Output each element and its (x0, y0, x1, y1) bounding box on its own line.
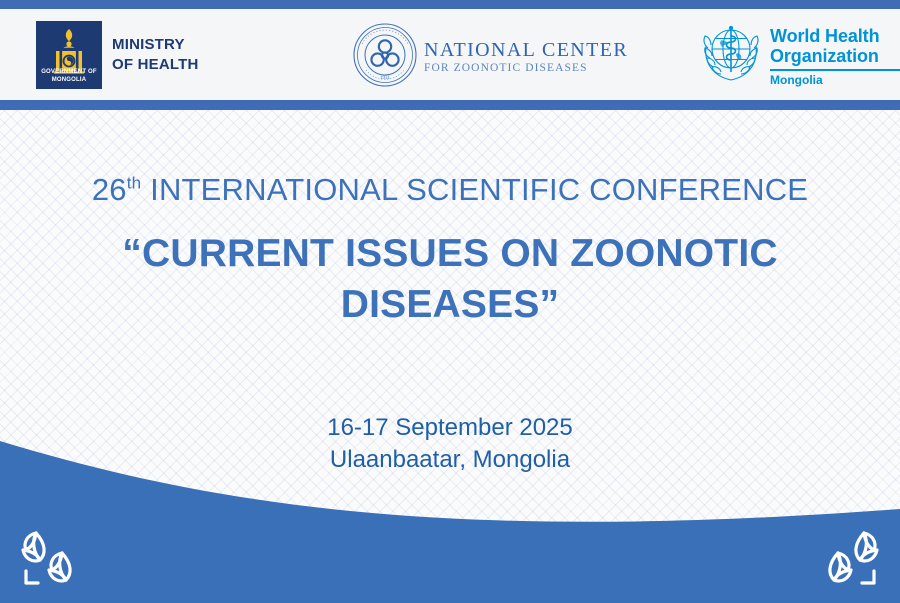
mongolian-knot-ornament-left (14, 527, 86, 589)
ministry-line-1: MINISTRY (112, 35, 199, 55)
conference-edition-line: 26th INTERNATIONAL SCIENTIFIC CONFERENCE (0, 170, 900, 210)
logo-world-health-organization: World Health Organization Mongolia (700, 22, 900, 89)
logo-national-center-zoonotic-diseases: 1931 NATIONAL CENTER FOR ZOONOTIC DISEAS… (352, 22, 628, 93)
conference-title-slide: GOVERNMENT OF MONGOLIA MINISTRY OF HEALT… (0, 0, 900, 603)
top-accent-bar (0, 0, 900, 9)
page-title: “CURRENT ISSUES ON ZOONOTIC DISEASES” (0, 228, 900, 330)
title-block: 26th INTERNATIONAL SCIENTIFIC CONFERENCE… (0, 170, 900, 330)
seal-year: 1931 (380, 76, 391, 81)
wave-blue-layer (0, 441, 900, 603)
zoonotic-line-2: FOR ZOONOTIC DISEASES (424, 63, 628, 75)
who-wordmark: World Health Organization Mongolia (770, 26, 900, 86)
who-underline-rule (770, 69, 900, 71)
footer-wave-decoration (0, 433, 900, 603)
who-line-1: World Health (770, 26, 900, 46)
who-emblem-icon (700, 22, 762, 89)
mongolian-knot-ornament-right (814, 527, 886, 589)
conference-label: INTERNATIONAL SCIENTIFIC CONFERENCE (141, 172, 808, 207)
conference-ordinal-suffix: th (127, 174, 142, 193)
mongolia-state-emblem-icon: GOVERNMENT OF MONGOLIA (36, 21, 102, 89)
emblem-caption: GOVERNMENT OF MONGOLIA (36, 68, 102, 84)
emblem-caption-line-1: GOVERNMENT OF (36, 68, 102, 76)
logo-ministry-of-health: GOVERNMENT OF MONGOLIA MINISTRY OF HEALT… (36, 21, 199, 89)
who-country-label: Mongolia (770, 74, 900, 86)
ministry-of-health-wordmark: MINISTRY OF HEALTH (112, 35, 199, 75)
conference-number: 26 (92, 172, 127, 207)
who-line-2: Organization (770, 46, 900, 66)
header-accent-bar (0, 100, 900, 110)
ministry-line-2: OF HEALTH (112, 55, 199, 75)
zoonotic-seal-icon: 1931 (352, 22, 418, 93)
emblem-caption-line-2: MONGOLIA (36, 76, 102, 84)
zoonotic-center-wordmark: NATIONAL CENTER FOR ZOONOTIC DISEASES (424, 40, 628, 75)
zoonotic-line-1: NATIONAL CENTER (424, 40, 628, 60)
